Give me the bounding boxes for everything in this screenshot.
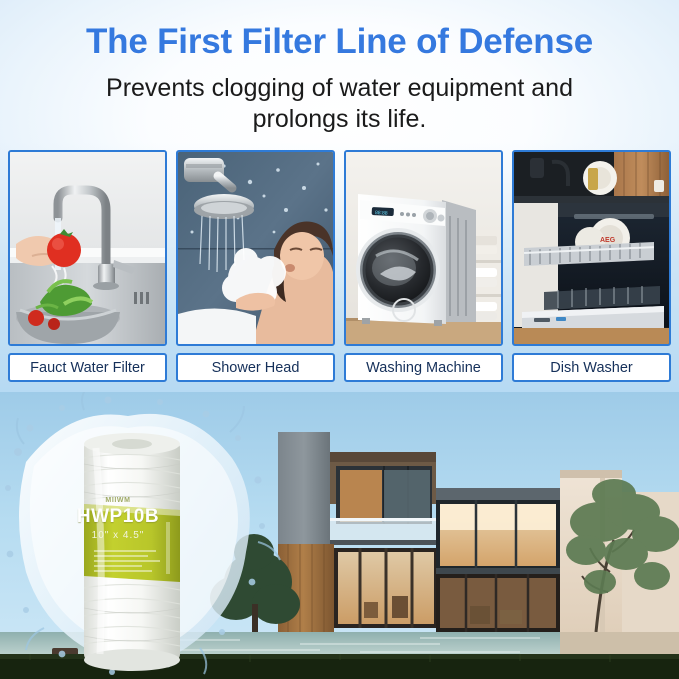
page-headline: The First Filter Line of Defense xyxy=(0,22,679,62)
application-card-dishwasher[interactable]: AEG D xyxy=(512,150,671,382)
washing-machine-photo: 88:88 xyxy=(344,150,503,346)
subtitle-line-2: prolongs its life. xyxy=(0,104,679,135)
cartridge-size-label: 10" x 4.5" xyxy=(63,530,173,541)
application-card-faucet[interactable]: Fauct Water Filter xyxy=(8,150,167,382)
dishwasher-photo: AEG xyxy=(512,150,671,346)
product-infographic: The First Filter Line of Defense Prevent… xyxy=(0,0,679,679)
application-card-washer[interactable]: 88:88 xyxy=(344,150,503,382)
application-caption-shower: Shower Head xyxy=(176,353,335,382)
page-subtitle: Prevents clogging of water equipment and… xyxy=(0,73,679,135)
svg-text:88:88: 88:88 xyxy=(375,210,388,217)
faucet-washing-vegetables-photo xyxy=(8,150,167,346)
application-caption-dishwasher: Dish Washer xyxy=(512,353,671,382)
cartridge-model-label: HWP10B xyxy=(63,506,173,528)
application-card-shower[interactable]: Shower Head xyxy=(176,150,335,382)
cartridge-brand-mark: MIIWM xyxy=(63,497,173,504)
application-caption-faucet: Fauct Water Filter xyxy=(8,353,167,382)
subtitle-line-1: Prevents clogging of water equipment and xyxy=(106,74,573,102)
svg-text:AEG: AEG xyxy=(600,237,616,244)
shower-head-child-photo xyxy=(176,150,335,346)
application-caption-washer: Washing Machine xyxy=(344,353,503,382)
application-card-row: Fauct Water Filter xyxy=(8,150,671,382)
